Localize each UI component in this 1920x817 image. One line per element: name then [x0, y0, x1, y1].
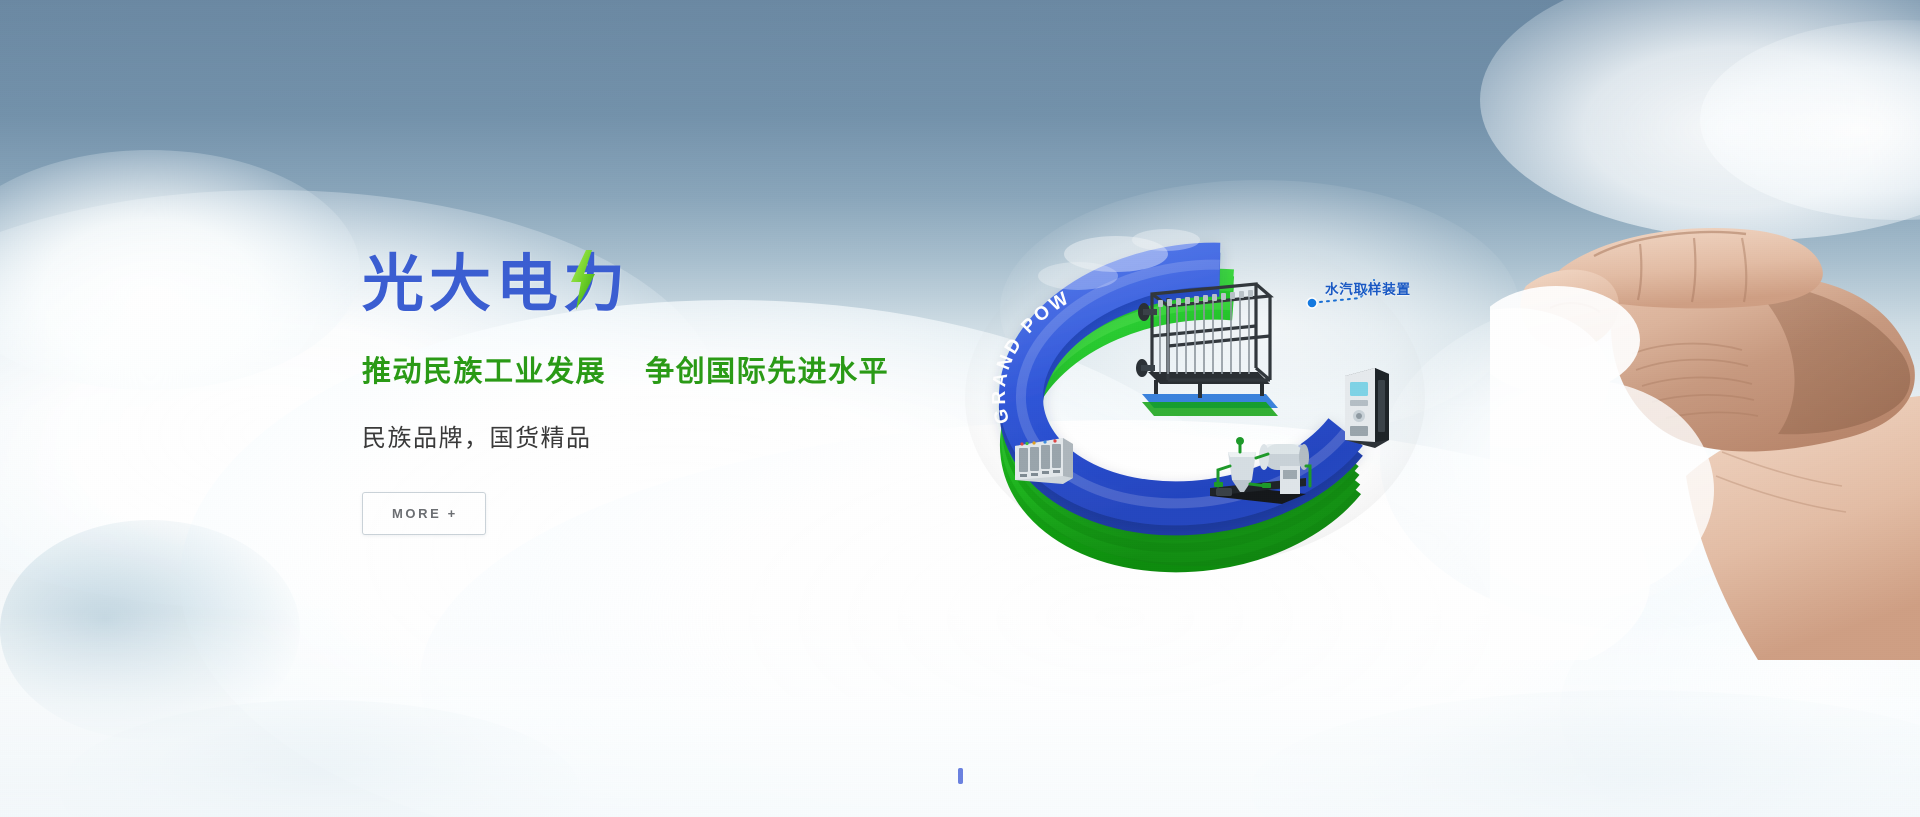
hand-graphic — [1490, 190, 1920, 660]
subhead-right: 争创国际先进水平 — [645, 356, 889, 388]
callout-dot — [1307, 298, 1317, 308]
carousel-dot-1[interactable] — [958, 768, 963, 784]
equipment-analyzer-cabinet — [1345, 368, 1389, 448]
hand-illustration — [1490, 190, 1920, 660]
carousel-indicators — [0, 768, 1920, 784]
callout-label: 水汽取样装置 — [1325, 278, 1411, 298]
hero-subhead: 推动民族工业发展 争创国际先进水平 — [362, 348, 1002, 390]
more-button[interactable]: MORE + — [362, 492, 486, 535]
ring-graphic: GRAND POWER — [960, 218, 1430, 588]
hero-tagline: 民族品牌，国货精品 — [362, 418, 1002, 453]
page-title: 光大电力 — [362, 254, 1002, 316]
ring-illustration: GRAND POWER — [960, 218, 1430, 588]
hero-banner: GRAND POWER — [0, 0, 1920, 817]
subhead-left: 推动民族工业发展 — [362, 356, 606, 388]
equipment-control-cabinet — [1015, 438, 1073, 484]
headline-text: 光大电力 — [362, 250, 630, 319]
hero-copy: 光大电力 推动民族工业发展 争创国际先进水平 民族品牌，国货精品 MORE + — [362, 254, 1002, 535]
